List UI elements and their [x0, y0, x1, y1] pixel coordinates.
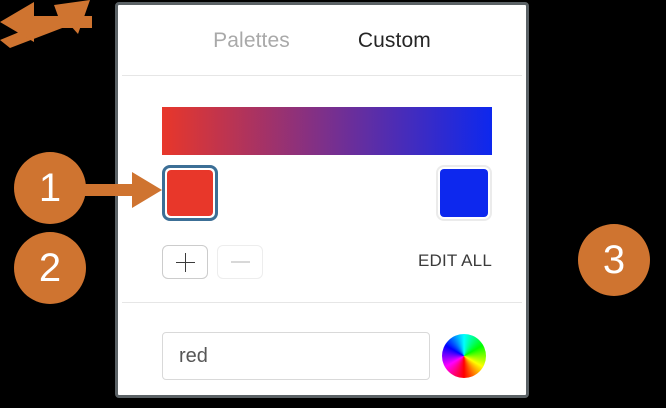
remove-color-stop-button[interactable]	[217, 245, 263, 279]
swatch-stop-red[interactable]	[162, 165, 218, 221]
annotation-badge-3: 3	[578, 224, 650, 296]
tab-palettes[interactable]: Palettes	[213, 30, 290, 51]
swatch-row	[162, 165, 492, 225]
swatch-fill-red	[167, 170, 213, 216]
color-wheel-icon[interactable]	[442, 334, 486, 378]
gradient-preview-strip	[162, 107, 492, 155]
annotation-badge-2: 2	[14, 232, 86, 304]
swatch-fill-blue	[440, 169, 488, 217]
color-name-input[interactable]	[162, 332, 430, 380]
divider-top	[122, 75, 522, 76]
plus-icon	[176, 253, 195, 272]
annotation-badge-3-number: 3	[603, 240, 625, 280]
add-color-stop-button[interactable]	[162, 245, 208, 279]
minus-icon	[231, 261, 250, 263]
color-picker-panel: Palettes Custom EDIT ALL	[115, 2, 529, 398]
annotation-arrow-1-icon	[80, 170, 162, 210]
divider-bottom	[122, 302, 522, 303]
annotation-arrow-3-icon	[0, 0, 92, 44]
swatch-stop-blue[interactable]	[436, 165, 492, 221]
color-input-row	[162, 330, 492, 382]
edit-all-button[interactable]: EDIT ALL	[418, 251, 492, 271]
annotation-badge-1: 1	[14, 152, 86, 224]
action-row: EDIT ALL	[162, 241, 492, 285]
annotation-badge-1-number: 1	[39, 168, 61, 208]
annotation-badge-2-number: 2	[39, 248, 61, 288]
tab-bar: Palettes Custom	[118, 5, 526, 75]
tab-custom[interactable]: Custom	[358, 30, 431, 51]
